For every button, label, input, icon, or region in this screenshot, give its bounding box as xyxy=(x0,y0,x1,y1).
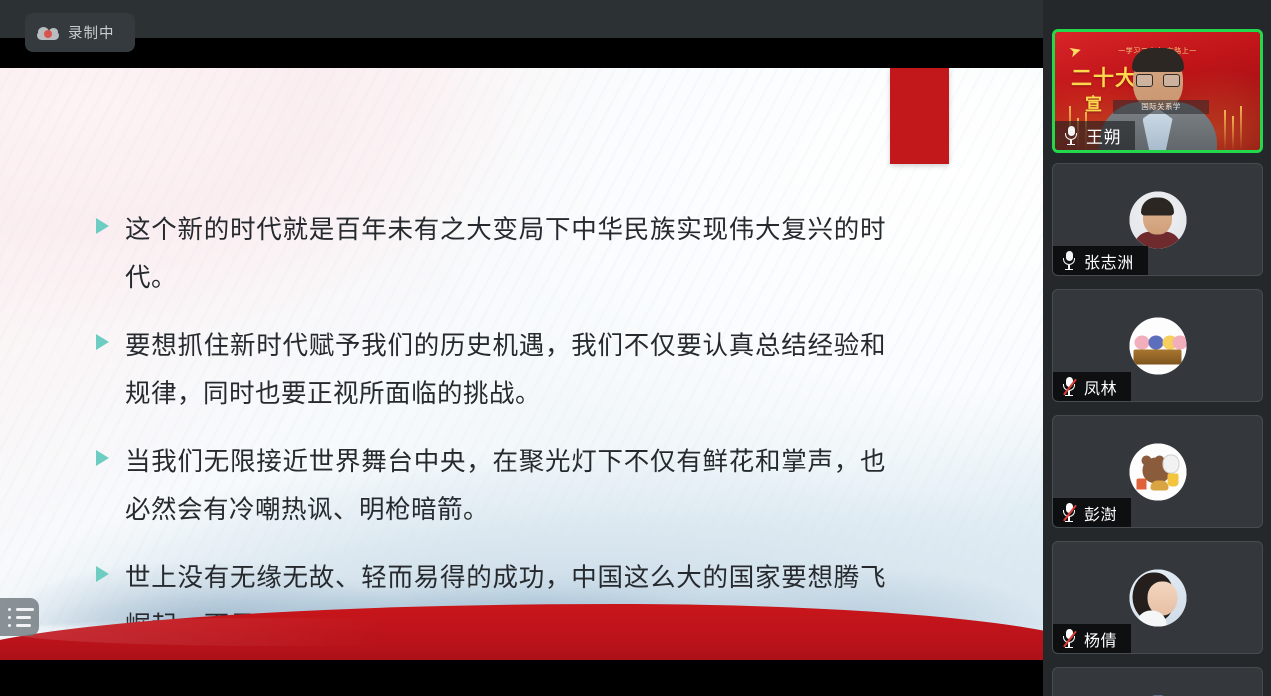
slide-title-line1: 二十大 xyxy=(1071,62,1137,92)
participant-nametag: 张志洲 xyxy=(1053,246,1148,275)
participant-rail[interactable]: ➤ 一学习二十大 在路上一 二十大 宣 国际关系学 xyxy=(1043,0,1271,696)
microphone-muted-icon xyxy=(1062,503,1076,522)
presentation-slide: 这个新的时代就是百年未有之大变局下中华民族实现伟大复兴的时代。 要想抓住新时代赋… xyxy=(0,68,1043,660)
avatar xyxy=(1129,569,1186,626)
participant-name: 张志洲 xyxy=(1084,249,1134,273)
bullet-text: 当我们无限接近世界舞台中央，在聚光灯下不仅有鲜花和掌声，也必然会有冷嘲热讽、明枪… xyxy=(125,438,886,534)
top-bar xyxy=(0,0,1043,38)
slide-bullet: 要想抓住新时代赋予我们的历史机遇，我们不仅要认真总结经验和规律，同时也要正视所面… xyxy=(96,322,886,418)
shared-screen-stage: 这个新的时代就是百年未有之大变局下中华民族实现伟大复兴的时代。 要想抓住新时代赋… xyxy=(0,38,1043,696)
bullet-triangle-icon xyxy=(96,566,109,582)
microphone-muted-icon xyxy=(1062,377,1076,396)
slide-bullet: 当我们无限接近世界舞台中央，在聚光灯下不仅有鲜花和掌声，也必然会有冷嘲热讽、明枪… xyxy=(96,438,886,534)
participant-nametag: 杨倩 xyxy=(1053,624,1131,653)
participant-nametag: 凤林 xyxy=(1053,372,1131,401)
slide-bullet-list: 这个新的时代就是百年未有之大变局下中华民族实现伟大复兴的时代。 要想抓住新时代赋… xyxy=(96,206,886,660)
recording-indicator: 录制中 xyxy=(25,13,135,52)
participant-tile[interactable]: 张志洲 xyxy=(1052,163,1263,276)
avatar xyxy=(1129,317,1186,374)
lower-third-text: 国际关系学 xyxy=(1113,100,1209,114)
participant-name: 杨倩 xyxy=(1084,627,1117,651)
cloud-record-icon xyxy=(37,25,59,40)
participant-tile[interactable]: 杨倩 xyxy=(1052,541,1263,654)
participant-tile[interactable]: 彭澍 xyxy=(1052,415,1263,528)
participant-name: 凤林 xyxy=(1084,375,1117,399)
bullet-triangle-icon xyxy=(96,334,109,350)
list-menu-icon xyxy=(8,608,39,611)
bullet-text: 要想抓住新时代赋予我们的历史机遇，我们不仅要认真总结经验和规律，同时也要正视所面… xyxy=(125,322,886,418)
participant-tile-partial[interactable] xyxy=(1052,667,1263,696)
recording-label: 录制中 xyxy=(68,22,115,43)
meeting-window: 录制中 这个新的时代就是百年未有之大变局下中华民族实现伟大复兴的时代。 要想抓住… xyxy=(0,0,1271,696)
participant-nametag: 王朔 xyxy=(1055,121,1135,150)
slide-red-block xyxy=(890,68,949,164)
slide-title-line2: 宣 xyxy=(1085,90,1102,115)
participant-name: 王朔 xyxy=(1086,123,1121,148)
bullet-text: 这个新的时代就是百年未有之大变局下中华民族实现伟大复兴的时代。 xyxy=(125,206,886,302)
microphone-unmuted-icon xyxy=(1064,126,1078,145)
slide-bullet: 这个新的时代就是百年未有之大变局下中华民族实现伟大复兴的时代。 xyxy=(96,206,886,302)
participant-nametag: 彭澍 xyxy=(1053,498,1131,527)
avatar xyxy=(1129,191,1186,248)
participant-tile-active[interactable]: ➤ 一学习二十大 在路上一 二十大 宣 国际关系学 xyxy=(1052,29,1263,153)
bullet-triangle-icon xyxy=(96,450,109,466)
microphone-muted-icon xyxy=(1062,629,1076,648)
bullet-triangle-icon xyxy=(96,218,109,234)
list-menu-button[interactable] xyxy=(0,598,39,636)
microphone-unmuted-icon xyxy=(1062,251,1076,270)
participant-name: 彭澍 xyxy=(1084,501,1117,525)
avatar xyxy=(1129,443,1186,500)
participant-tile[interactable]: 凤林 xyxy=(1052,289,1263,402)
